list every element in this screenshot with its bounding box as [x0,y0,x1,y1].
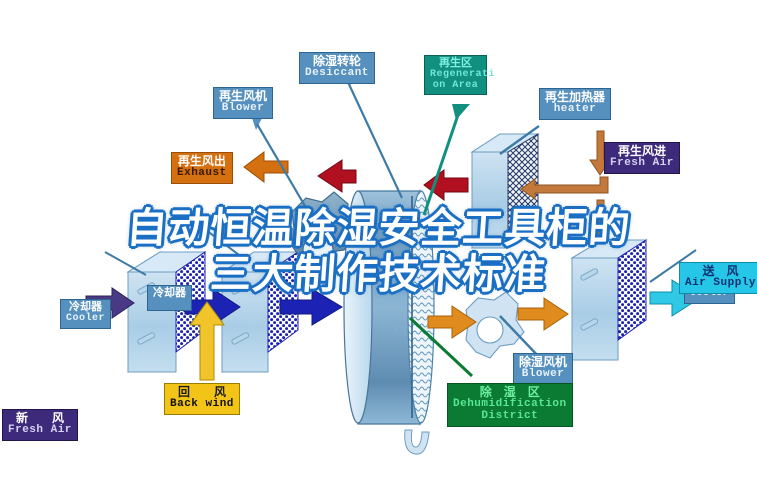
label-regeneration-heater-en: heater [545,104,605,116]
label-fresh-air-inlet[interactable]: 新 风 Fresh Air [2,409,78,441]
label-dehumidify-blower-en: Blower [519,369,567,381]
label-regeneration-exhaust[interactable]: 再生风出 Exhaust [171,152,233,184]
label-dehumidify-blower[interactable]: 除湿风机 Blower [513,353,573,385]
label-back-wind-en: Back wind [170,399,234,411]
label-back-wind[interactable]: 回 风 Back wind [164,383,240,415]
label-regeneration-area-en-line2: on Area [430,81,481,92]
label-leader-lines [0,0,757,488]
label-regeneration-blower[interactable]: 再生风机 Blower [213,87,273,119]
label-fresh-air-inlet-cn: 新 风 [8,412,72,425]
dehumidifier-diagram: XT [0,0,757,488]
label-dehumidify-blower-cn: 除湿风机 [519,356,567,369]
label-cooler-left-outer-en: Cooler [66,314,105,325]
label-dehumidify-district[interactable]: 除 湿 区 Dehumidification District [447,383,573,427]
label-regeneration-fresh-air[interactable]: 再生风进 Fresh Air [604,142,680,174]
label-air-supply-en: Air Supply [685,278,756,290]
label-regeneration-exhaust-en: Exhaust [177,168,227,180]
label-regeneration-exhaust-cn: 再生风出 [177,155,227,168]
label-desiccant-rotor[interactable]: 除湿转轮 Desiccant [299,52,375,84]
label-air-supply[interactable]: 送 风 Air Supply [679,262,757,294]
label-desiccant-rotor-en: Desiccant [305,68,369,80]
label-back-wind-cn: 回 风 [170,386,234,399]
label-regeneration-blower-cn: 再生风机 [219,90,267,103]
label-cooler-left-outer[interactable]: 冷却器 Cooler [60,299,111,329]
label-regeneration-fresh-air-en: Fresh Air [610,158,674,170]
label-fresh-air-inlet-en: Fresh Air [8,425,72,437]
label-cooler-left-inner[interactable]: 冷却器 [147,285,192,311]
label-regeneration-heater[interactable]: 再生加热器 heater [539,88,611,120]
label-dehumidify-district-en-line2: District [453,411,567,423]
label-regeneration-fresh-air-cn: 再生风进 [610,145,674,158]
label-regeneration-area[interactable]: 再生区 Regenerati on Area [424,55,487,95]
label-desiccant-rotor-cn: 除湿转轮 [305,55,369,68]
label-regeneration-heater-cn: 再生加热器 [545,91,605,104]
label-dehumidify-district-cn: 除 湿 区 [453,386,567,399]
label-cooler-left-inner-cn: 冷却器 [153,288,186,300]
label-air-supply-cn: 送 风 [685,265,756,278]
label-regeneration-blower-en: Blower [219,103,267,115]
